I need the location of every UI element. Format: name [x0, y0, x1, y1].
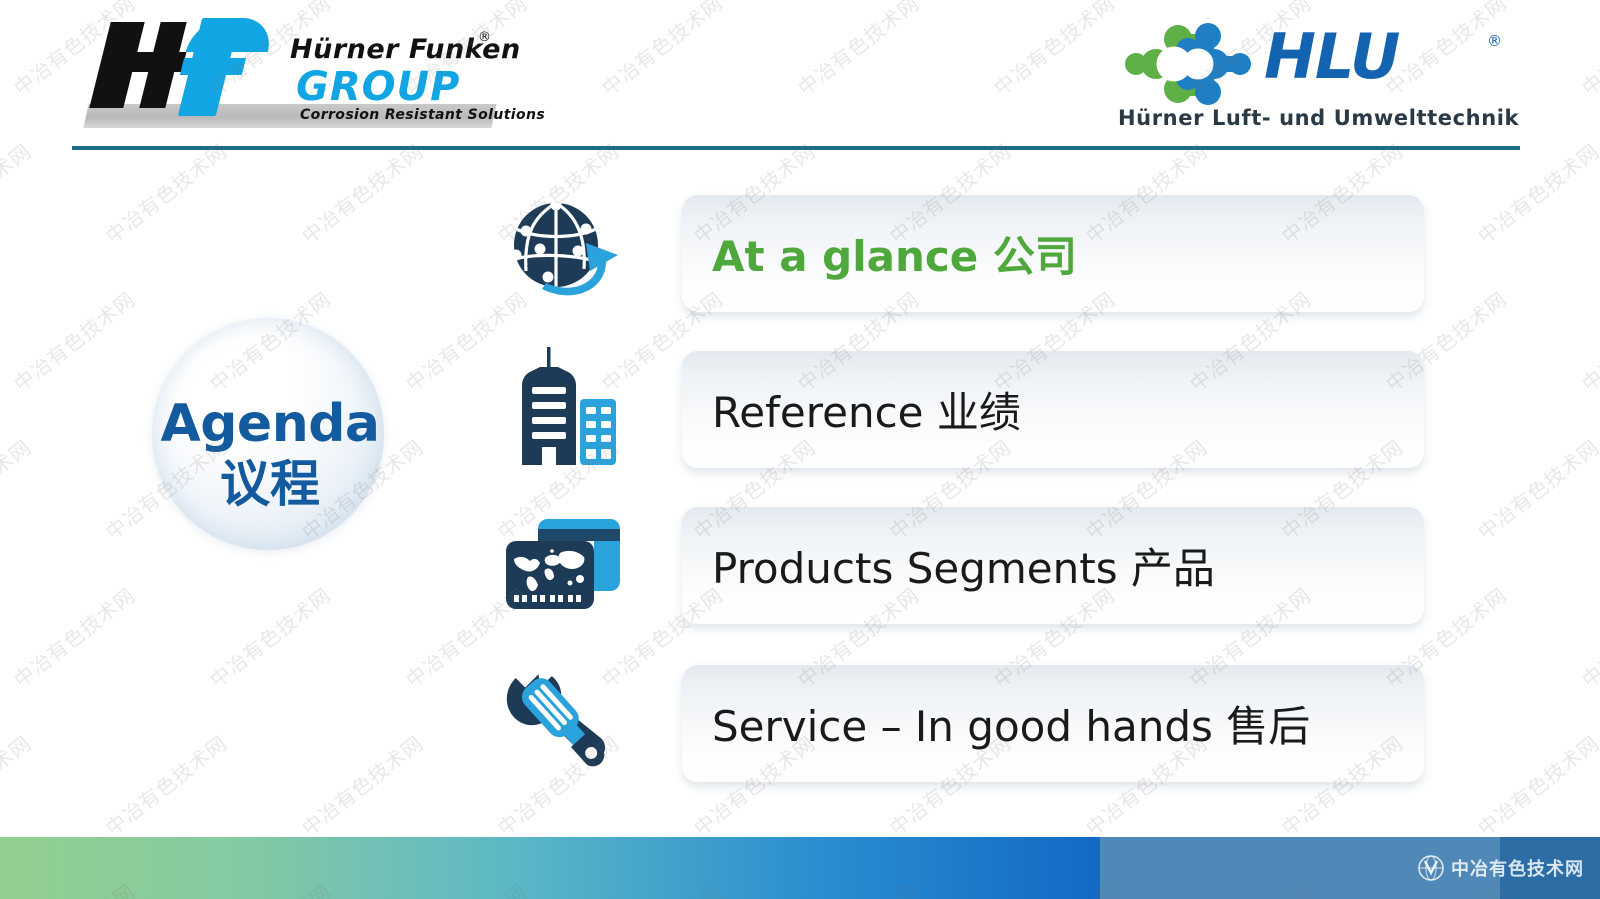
globe-network-arrow-icon: [486, 186, 636, 316]
agenda-item-products-segments[interactable]: Products Segments 产品: [486, 498, 1426, 638]
agenda-item-label: Products Segments 产品: [712, 506, 1215, 624]
wrench-screwdriver-icon: [486, 656, 636, 786]
agenda-item-label: Reference 业绩: [712, 350, 1021, 468]
footer-gradient-left: [0, 837, 1100, 899]
footer-watermark: 中冶有色技术网: [1418, 855, 1584, 881]
agenda-item-service[interactable]: Service – In good hands 售后: [486, 656, 1426, 796]
footer-watermark-text: 中冶有色技术网: [1451, 855, 1584, 881]
buildings-icon: [486, 342, 636, 472]
agenda-item-at-a-glance[interactable]: At a glance 公司: [486, 186, 1426, 326]
agenda-item-reference[interactable]: Reference 业绩: [486, 342, 1426, 482]
world-map-cards-icon: [486, 498, 636, 628]
footer-gradient-band: 中冶有色技术网: [0, 837, 1600, 899]
agenda-item-label: At a glance 公司: [712, 194, 1077, 312]
agenda-slide: Hürner Funken ® GROUP Corrosion Resistan…: [0, 0, 1600, 899]
agenda-item-label: Service – In good hands 售后: [712, 664, 1310, 782]
agenda-list: At a glance 公司: [0, 0, 1600, 899]
globe-watermark-icon: [1418, 855, 1444, 881]
